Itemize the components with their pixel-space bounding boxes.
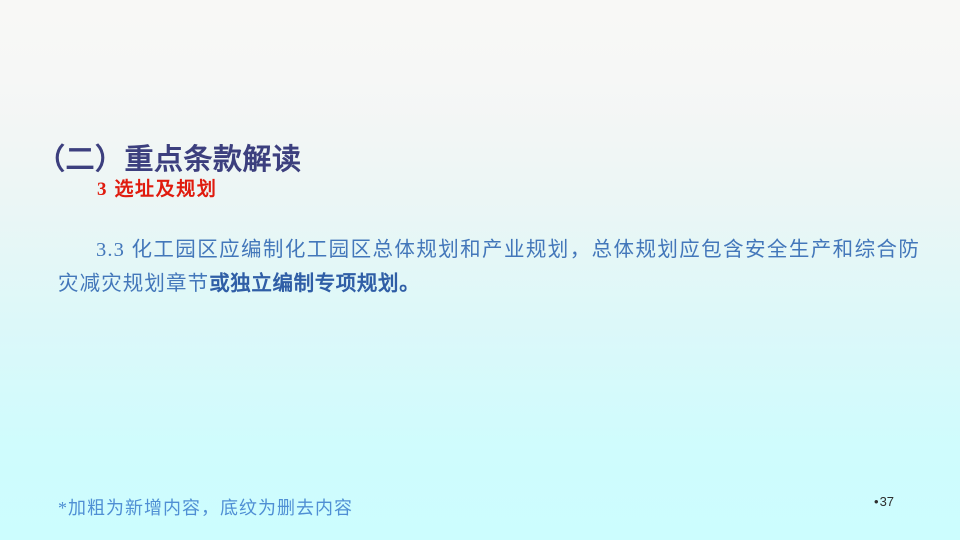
page-number: •37 — [874, 494, 894, 510]
footnote-legend: *加粗为新增内容，底纹为删去内容 — [58, 497, 353, 520]
clause-regular-text: 3.3 化工园区应编制化工园区总体规划和产业规划，总体规划应包含安全生产和综合防… — [58, 239, 920, 295]
bullet-icon: • — [874, 495, 879, 508]
clause-added-text: 或独立编制专项规划。 — [209, 273, 420, 295]
page-number-value: 37 — [880, 494, 894, 510]
section-heading: 3 选址及规划 — [97, 178, 217, 202]
slide-canvas: （二）重点条款解读 3 选址及规划 3.3 化工园区应编制化工园区总体规划和产业… — [0, 0, 960, 540]
page-title: （二）重点条款解读 — [36, 143, 302, 178]
clause-paragraph: 3.3 化工园区应编制化工园区总体规划和产业规划，总体规划应包含安全生产和综合防… — [58, 233, 920, 301]
